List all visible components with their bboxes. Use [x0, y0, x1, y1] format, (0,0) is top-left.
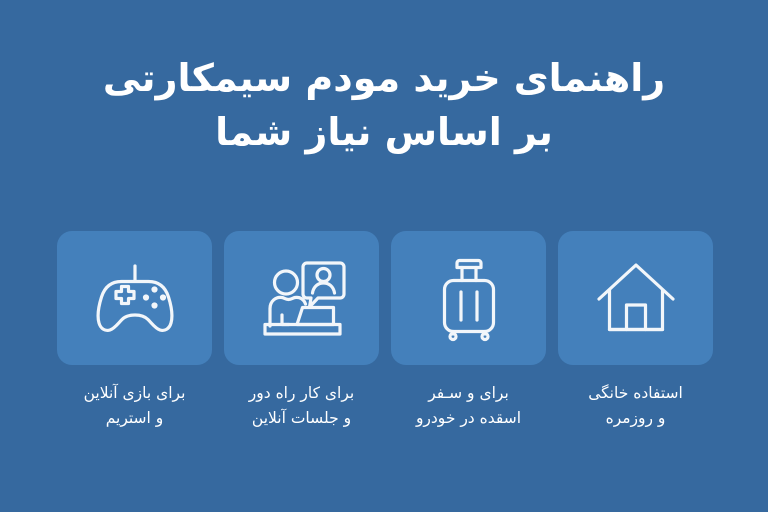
- use-case-card-home[interactable]: استفاده خانگی و روزمره: [558, 231, 713, 431]
- infographic-poster: راهنمای خرید مودم سیمکارتی بر اساس نیاز …: [0, 0, 768, 512]
- caption-line-2: و روزمره: [551, 406, 721, 431]
- caption-line-1: برای بازی آنلاین: [50, 381, 220, 406]
- remote-work-video-call-icon: [250, 246, 354, 350]
- title-line-1: راهنمای خرید مودم سیمکارتی: [0, 52, 768, 106]
- caption-line-1: استفاده خانگی: [551, 381, 721, 406]
- caption-line-2: و استریم: [50, 406, 220, 431]
- icon-tile-travel[interactable]: [391, 231, 546, 365]
- use-case-card-travel[interactable]: برای و سـفر اسقده در خودرو: [391, 231, 546, 431]
- caption-line-1: برای و سـفر: [384, 381, 554, 406]
- house-icon: [584, 246, 688, 350]
- page-title: راهنمای خرید مودم سیمکارتی بر اساس نیاز …: [0, 52, 768, 160]
- card-caption-remote-work: برای کار راه دور و جلسات آنلاین: [217, 381, 387, 431]
- card-caption-home: استفاده خانگی و روزمره: [551, 381, 721, 431]
- caption-line-1: برای کار راه دور: [217, 381, 387, 406]
- use-case-cards-row: برای بازی آنلاین و استریم: [57, 231, 713, 431]
- gamepad-icon: [83, 246, 187, 350]
- suitcase-icon: [417, 246, 521, 350]
- title-line-2: بر اساس نیاز شما: [0, 106, 768, 160]
- icon-tile-remote-work[interactable]: [224, 231, 379, 365]
- card-caption-travel: برای و سـفر اسقده در خودرو: [384, 381, 554, 431]
- card-caption-gaming: برای بازی آنلاین و استریم: [50, 381, 220, 431]
- use-case-card-gaming[interactable]: برای بازی آنلاین و استریم: [57, 231, 212, 431]
- caption-line-2: و جلسات آنلاین: [217, 406, 387, 431]
- caption-line-2: اسقده در خودرو: [384, 406, 554, 431]
- icon-tile-home[interactable]: [558, 231, 713, 365]
- use-case-card-remote-work[interactable]: برای کار راه دور و جلسات آنلاین: [224, 231, 379, 431]
- icon-tile-gaming[interactable]: [57, 231, 212, 365]
